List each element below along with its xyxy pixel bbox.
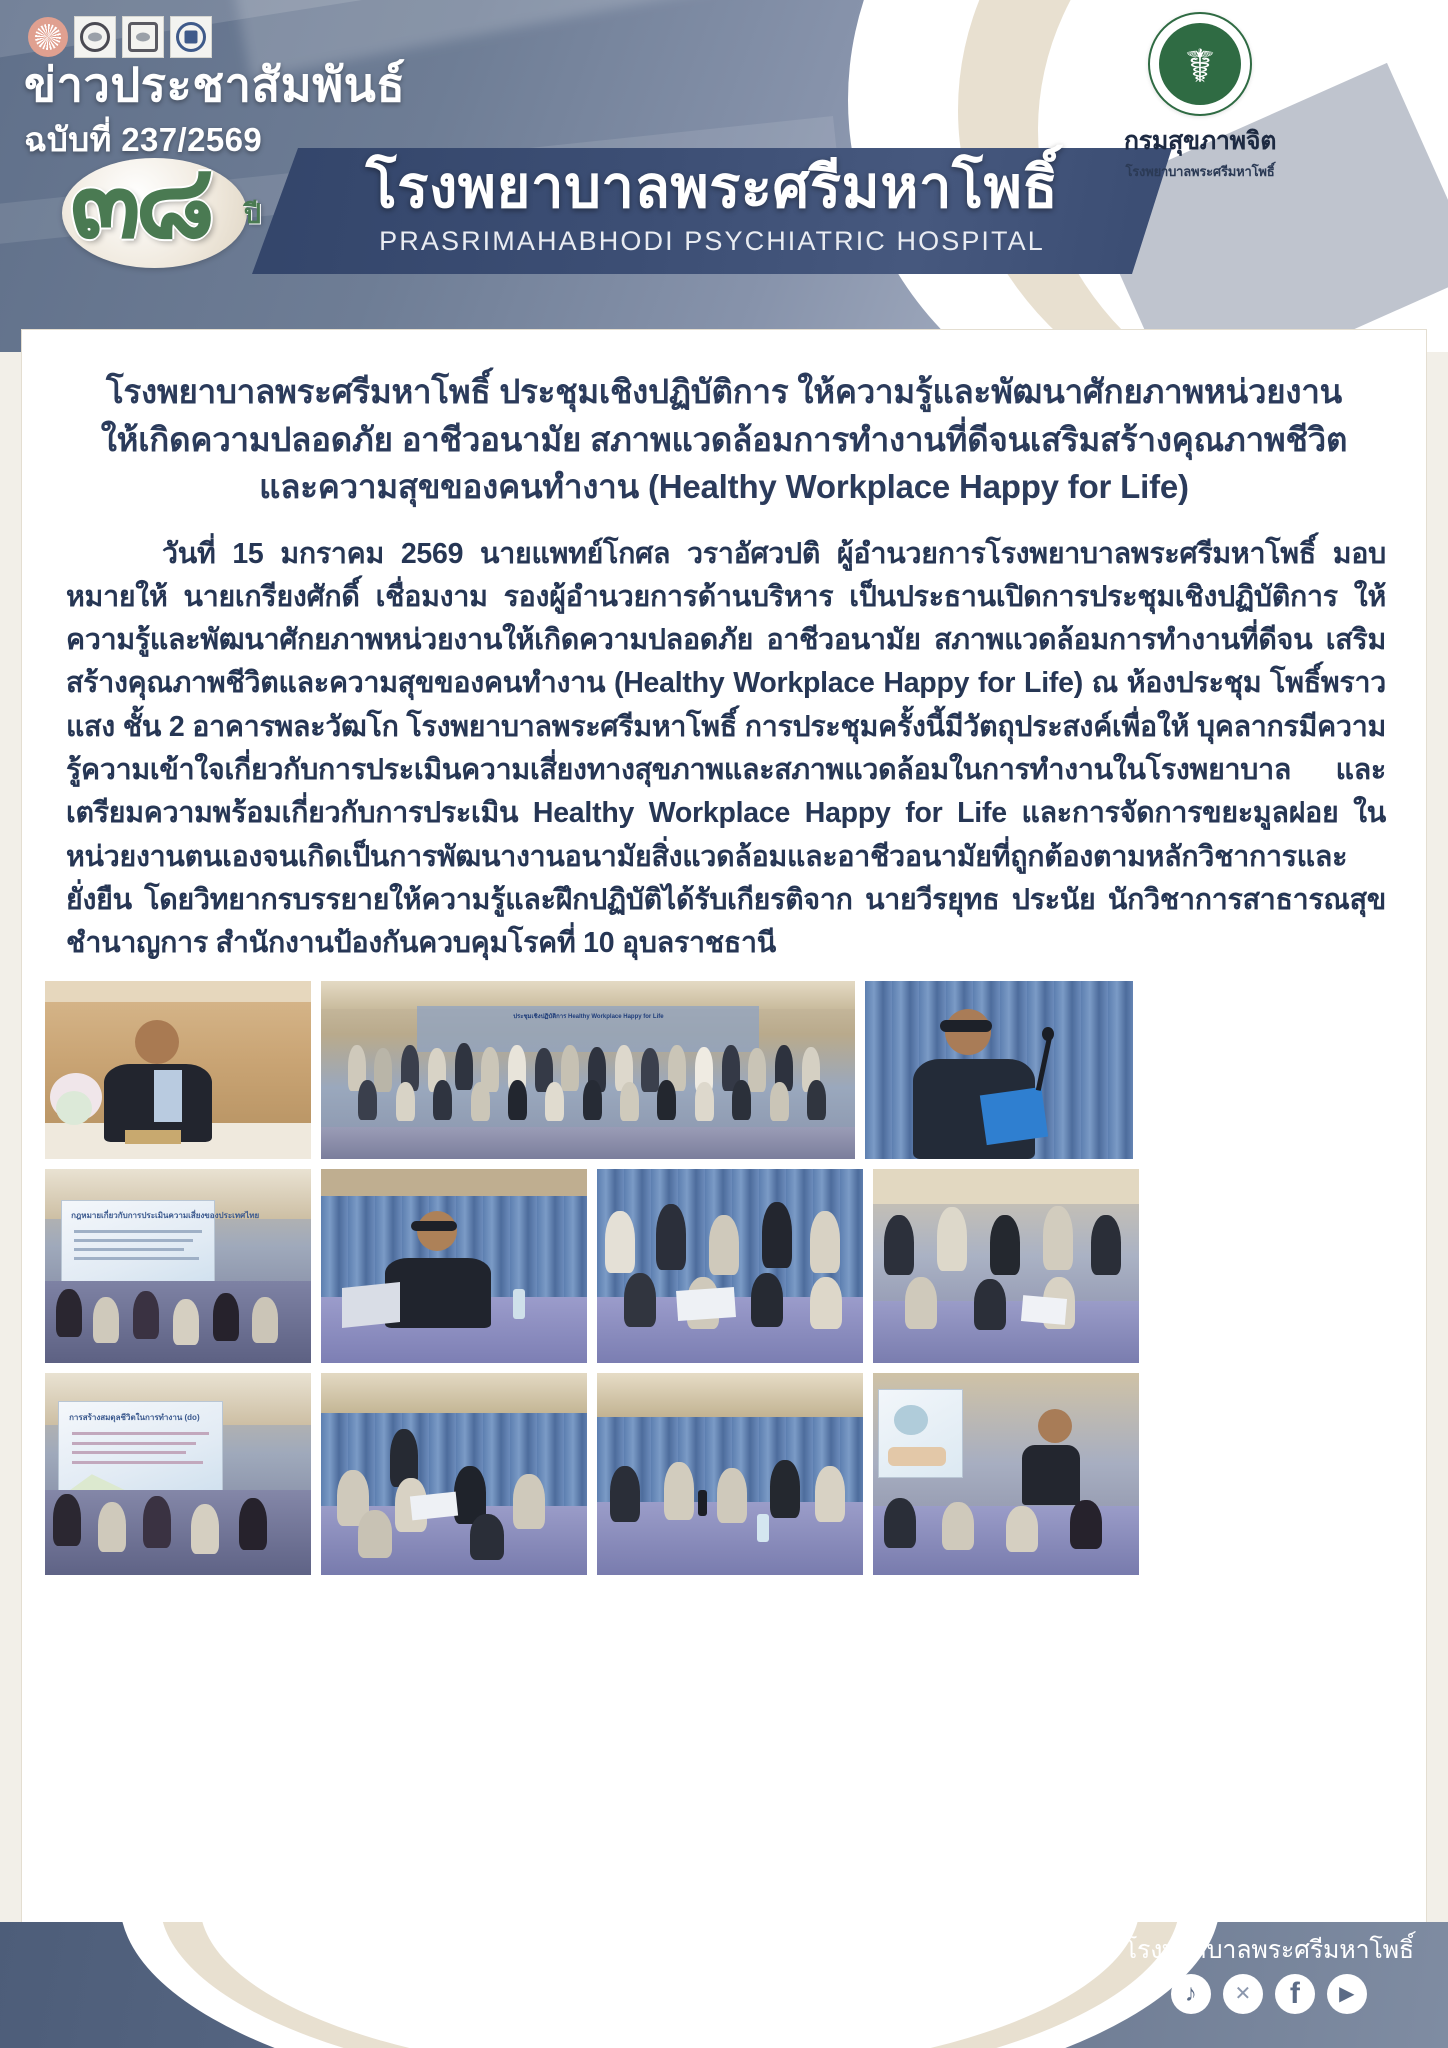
photo-opening-speaker (864, 980, 1134, 1160)
hospital-name-thai: โรงพยาบาลพระศรีมหาโพธิ์ (252, 158, 1172, 219)
ha-seal-icon (74, 16, 116, 58)
photo-director-portrait (44, 980, 312, 1160)
headline-line-1: โรงพยาบาลพระศรีมหาโพธิ์ ประชุมเชิงปฏิบัต… (68, 368, 1380, 416)
hotline-label: สายด่วนสุขภาพจิต (899, 1930, 1098, 1970)
photo-gallery: ประชุมเชิงปฏิบัติการ Healthy Workplace H… (22, 966, 1426, 1576)
crowd-figures (321, 981, 855, 1159)
photo-row-1: ประชุมเชิงปฏิบัติการ Healthy Workplace H… (44, 980, 1404, 1160)
sunburst-badge-icon (28, 17, 68, 57)
press-release-poster: ข่าวประชาสัมพันธ์ ฉบับที่ 237/2569 ๓๘ ปี… (0, 0, 1448, 2048)
hospital-name-english: PRASRIMAHABHODI PSYCHIATRIC HOSPITAL (252, 226, 1172, 257)
poster-header: ข่าวประชาสัมพันธ์ ฉบับที่ 237/2569 ๓๘ ปี… (0, 0, 1448, 352)
quality-seal-icon (170, 16, 212, 58)
photo-slide-happy-workplace: การสร้างสมดุลชีวิตในการทำงาน (do) (44, 1372, 312, 1576)
tiktok-icon[interactable]: ♪ (1171, 1974, 1211, 2014)
social-icon-row: ♪ ✕ f ▶ (1124, 1974, 1414, 2014)
youtube-icon[interactable]: ▶ (1327, 1974, 1367, 2014)
article-body: วันที่ 15 มกราคม 2569 นายแพทย์โกศล วราอั… (22, 511, 1426, 966)
news-banner-label: ข่าวประชาสัมพันธ์ ฉบับที่ 237/2569 (24, 60, 406, 166)
photo-lecturer (320, 1168, 588, 1364)
ministry-logo-block: ☤ กรมสุขภาพจิต โรงพยาบาลพระศรีมหาโพธิ์ (1100, 8, 1300, 186)
page-title: โรงพยาบาลพระศรีมหาโพธิ์ ประชุมเชิงปฏิบัต… (22, 330, 1426, 511)
ministry-department-name: กรมสุขภาพจิต (1100, 121, 1300, 161)
anniversary-unit: ปี (244, 192, 261, 235)
social-media-block: โรงพยาบาลพระศรีมหาโพธิ์ ♪ ✕ f ▶ (1124, 1930, 1414, 2014)
photo-row-3: การสร้างสมดุลชีวิตในการทำงาน (do) (44, 1372, 1404, 1576)
photo-workshop-group-a (596, 1168, 864, 1364)
facebook-icon[interactable]: f (1275, 1974, 1315, 2014)
caduceus-icon: ☤ (1148, 12, 1252, 116)
headline-line-3: และความสุขของคนทำงาน (Healthy Workplace … (68, 463, 1380, 511)
photo-speaker-front (872, 1372, 1140, 1576)
mental-health-hotline: สายด่วนสุขภาพจิต 1323 (899, 1930, 1098, 2013)
certificate-seal-icon (122, 16, 164, 58)
hotline-number[interactable]: 1323 (899, 1968, 1098, 2013)
photo-slide-risk-law: กฎหมายเกี่ยวกับการประเมินความเสี่ยงของปร… (44, 1168, 312, 1364)
news-label-text: ข่าวประชาสัมพันธ์ (24, 60, 406, 109)
photo-group-panorama: ประชุมเชิงปฏิบัติการ Healthy Workplace H… (320, 980, 856, 1160)
social-account-label: โรงพยาบาลพระศรีมหาโพธิ์ (1124, 1930, 1414, 1970)
issue-number-text: ฉบับที่ 237/2569 (24, 113, 406, 166)
article-paragraph: วันที่ 15 มกราคม 2569 นายแพทย์โกศล วราอั… (66, 538, 1386, 960)
photo-row-2: กฎหมายเกี่ยวกับการประเมินความเสี่ยงของปร… (44, 1168, 1404, 1364)
headline-line-2: ให้เกิดความปลอดภัย อาชีวอนามัย สภาพแวดล้… (68, 416, 1380, 464)
photo-presentation-floor (596, 1372, 864, 1576)
x-twitter-icon[interactable]: ✕ (1223, 1974, 1263, 2014)
footer-contact-block: สายด่วนสุขภาพจิต 1323 โรงพยาบาลพระศรีมหา… (899, 1930, 1414, 2014)
photo-workshop-group-b (872, 1168, 1140, 1364)
ministry-hospital-name: โรงพยาบาลพระศรีมหาโพธิ์ (1100, 161, 1300, 182)
poster-footer: สายด่วนสุขภาพจิต 1323 โรงพยาบาลพระศรีมหา… (0, 1922, 1448, 2048)
content-sheet: โรงพยาบาลพระศรีมหาโพธิ์ ประชุมเชิงปฏิบัต… (22, 330, 1426, 1942)
photo-discussion-table (320, 1372, 588, 1576)
hospital-name-plaque: โรงพยาบาลพระศรีมหาโพธิ์ PRASRIMAHABHODI … (252, 148, 1172, 274)
accreditation-logo-strip (28, 16, 212, 58)
